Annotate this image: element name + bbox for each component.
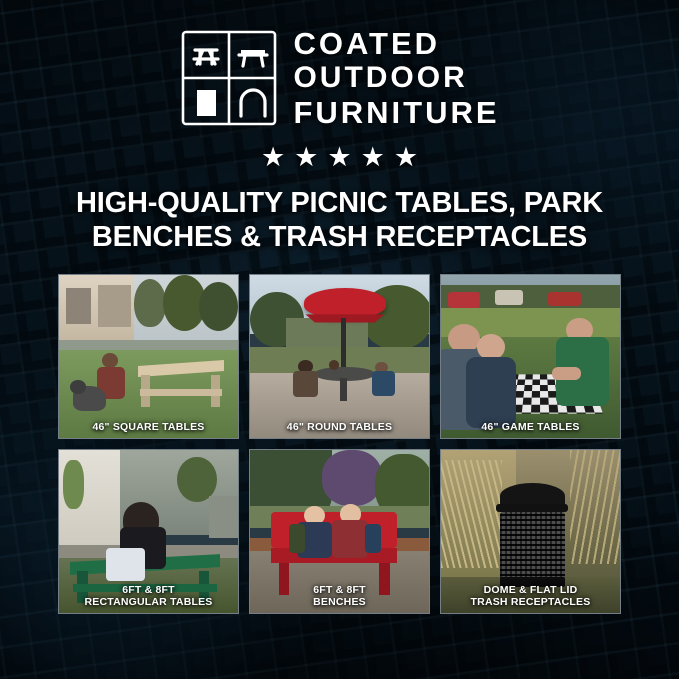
product-gallery: 46" SQUARE TABLES (58, 274, 621, 614)
logo-line-1: COATED (293, 26, 499, 61)
logo-line-2: OUTDOOR (293, 61, 499, 95)
brand-logo: COATED OUTDOOR FURNITURE (179, 26, 499, 130)
caption-line-1: 6FT & 8FT (252, 584, 427, 596)
gallery-item-rectangular-tables[interactable]: 6FT & 8FT RECTANGULAR TABLES (58, 449, 239, 614)
picnic-table-and-trash-can-quadrant-logo (179, 28, 279, 128)
caption-square-tables: 46" SQUARE TABLES (59, 417, 238, 438)
caption-line-1: 46" GAME TABLES (443, 421, 618, 433)
logo-line-3: FURNITURE (293, 95, 499, 130)
photo-game-tables (441, 275, 620, 438)
caption-trash-receptacles: DOME & FLAT LID TRASH RECEPTACLES (441, 580, 620, 613)
star-icon: ★ (294, 144, 318, 171)
caption-line-2: BENCHES (252, 596, 427, 608)
headline: HIGH-QUALITY PICNIC TABLES, PARK BENCHES… (40, 187, 640, 254)
star-rating: ★ ★ ★ ★ ★ (261, 144, 418, 171)
gallery-item-round-tables[interactable]: 46" ROUND TABLES (249, 274, 430, 439)
caption-benches: 6FT & 8FT BENCHES (250, 580, 429, 613)
caption-round-tables: 46" ROUND TABLES (250, 417, 429, 438)
gallery-item-square-tables[interactable]: 46" SQUARE TABLES (58, 274, 239, 439)
headline-line-1: HIGH-QUALITY PICNIC TABLES, PARK (40, 187, 640, 221)
star-icon: ★ (361, 144, 385, 171)
caption-game-tables: 46" GAME TABLES (441, 417, 620, 438)
caption-line-1: 46" SQUARE TABLES (61, 421, 236, 433)
headline-line-2: BENCHES & TRASH RECEPTACLES (40, 221, 640, 255)
photo-square-tables (59, 275, 238, 438)
star-icon: ★ (394, 144, 418, 171)
caption-line-1: 6FT & 8FT (61, 584, 236, 596)
gallery-item-benches[interactable]: 6FT & 8FT BENCHES (249, 449, 430, 614)
star-icon: ★ (261, 144, 285, 171)
caption-line-1: 46" ROUND TABLES (252, 421, 427, 433)
brand-wordmark: COATED OUTDOOR FURNITURE (293, 26, 499, 130)
promo-content: COATED OUTDOOR FURNITURE ★ ★ ★ ★ ★ HIGH-… (0, 0, 679, 679)
caption-line-2: RECTANGULAR TABLES (61, 596, 236, 608)
star-icon: ★ (327, 144, 351, 171)
caption-rectangular-tables: 6FT & 8FT RECTANGULAR TABLES (59, 580, 238, 613)
gallery-item-trash-receptacles[interactable]: DOME & FLAT LID TRASH RECEPTACLES (440, 449, 621, 614)
caption-line-2: TRASH RECEPTACLES (443, 596, 618, 608)
caption-line-1: DOME & FLAT LID (443, 584, 618, 596)
gallery-item-game-tables[interactable]: 46" GAME TABLES (440, 274, 621, 439)
photo-round-tables (250, 275, 429, 438)
